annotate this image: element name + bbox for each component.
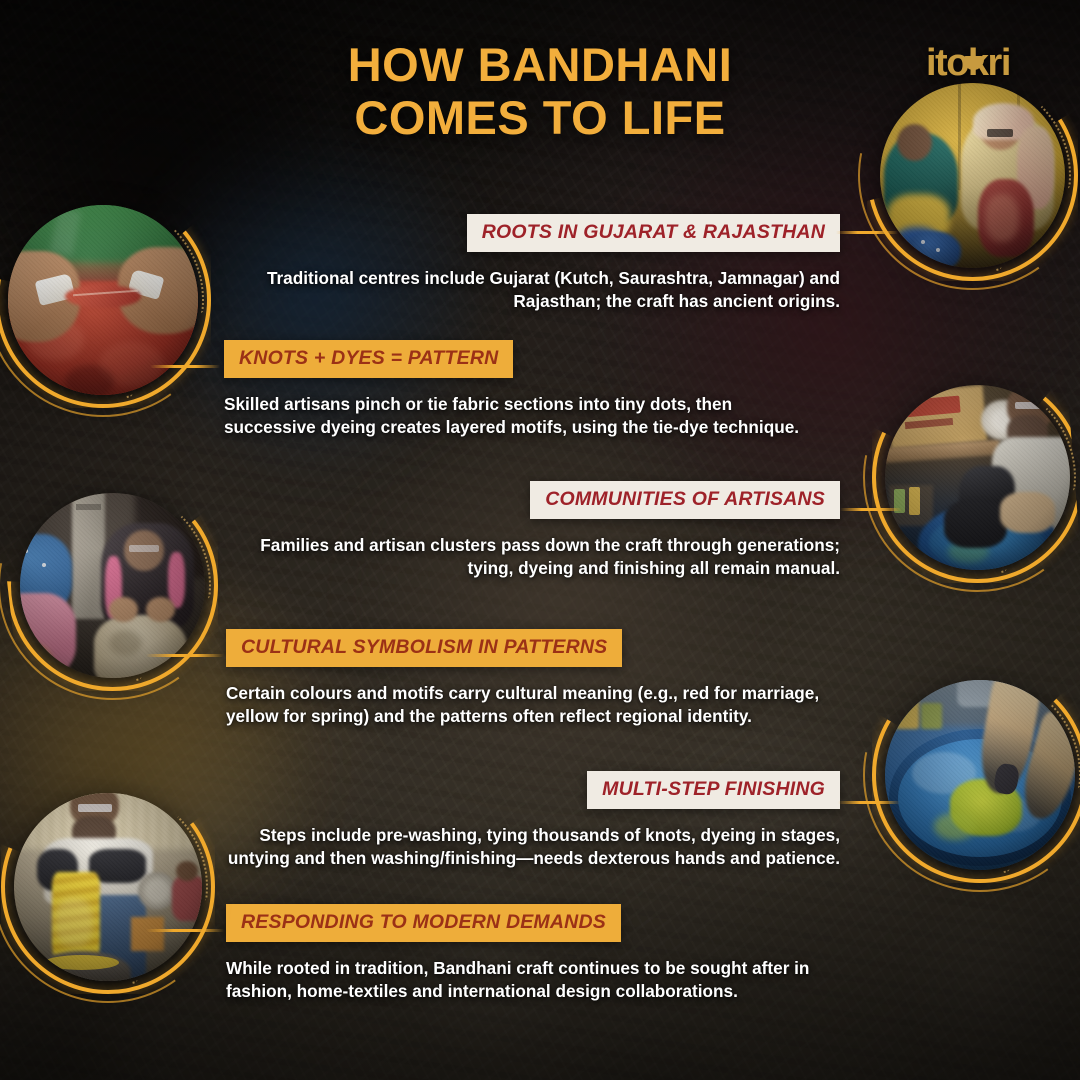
title-line-1: HOW BANDHANI — [348, 38, 733, 91]
section-heading: KNOTS + DYES = PATTERN — [224, 340, 513, 378]
connector-line-5 — [838, 801, 900, 804]
section-heading: COMMUNITIES OF ARTISANS — [530, 481, 840, 519]
photo-dyer-blue-vat-gloves — [885, 385, 1070, 570]
section-body: Certain colours and motifs carry cultura… — [226, 682, 826, 728]
connector-line-2 — [150, 365, 220, 368]
section-body: While rooted in tradition, Bandhani craf… — [226, 957, 826, 1003]
photo-dyer-lifting-yellow-cloth — [14, 793, 202, 981]
section-heading: RESPONDING TO MODERN DEMANDS — [226, 904, 621, 942]
photo-indigo-vat-yellow-cloth — [885, 680, 1075, 870]
brand-logo[interactable]: itokri — [926, 40, 1042, 86]
section-heading: ROOTS IN GUJARAT & RAJASTHAN — [467, 214, 840, 252]
section-heading: MULTI-STEP FINISHING — [587, 771, 840, 809]
section-multi-step-finishing: MULTI-STEP FINISHING Steps include pre-w… — [222, 771, 840, 870]
section-body: Families and artisan clusters pass down … — [225, 534, 840, 580]
section-body: Steps include pre-washing, tying thousan… — [222, 824, 840, 870]
connector-line-4 — [146, 654, 224, 657]
section-body: Traditional centres include Gujarat (Kut… — [220, 267, 840, 313]
section-responding-to-modern-demands: RESPONDING TO MODERN DEMANDS While roote… — [226, 904, 826, 1003]
section-heading: CULTURAL SYMBOLISM IN PATTERNS — [226, 629, 622, 667]
connector-line-1 — [836, 231, 898, 234]
photo-artisans-outdoors-tying — [20, 493, 205, 678]
section-body: Skilled artisans pinch or tie fabric sec… — [224, 393, 824, 439]
brand-logo-text: itokri — [926, 40, 1042, 86]
photo-women-tying-yellow-wall — [880, 83, 1065, 268]
section-communities-of-artisans: COMMUNITIES OF ARTISANS Families and art… — [225, 481, 840, 580]
section-cultural-symbolism-in-patterns: CULTURAL SYMBOLISM IN PATTERNS Certain c… — [226, 629, 826, 728]
connector-line-3 — [840, 508, 902, 511]
section-roots-in-gujarat-rajasthan: ROOTS IN GUJARAT & RAJASTHAN Traditional… — [220, 214, 840, 313]
connector-line-6 — [146, 929, 224, 932]
section-knots-dyes-pattern: KNOTS + DYES = PATTERN Skilled artisans … — [224, 340, 824, 439]
